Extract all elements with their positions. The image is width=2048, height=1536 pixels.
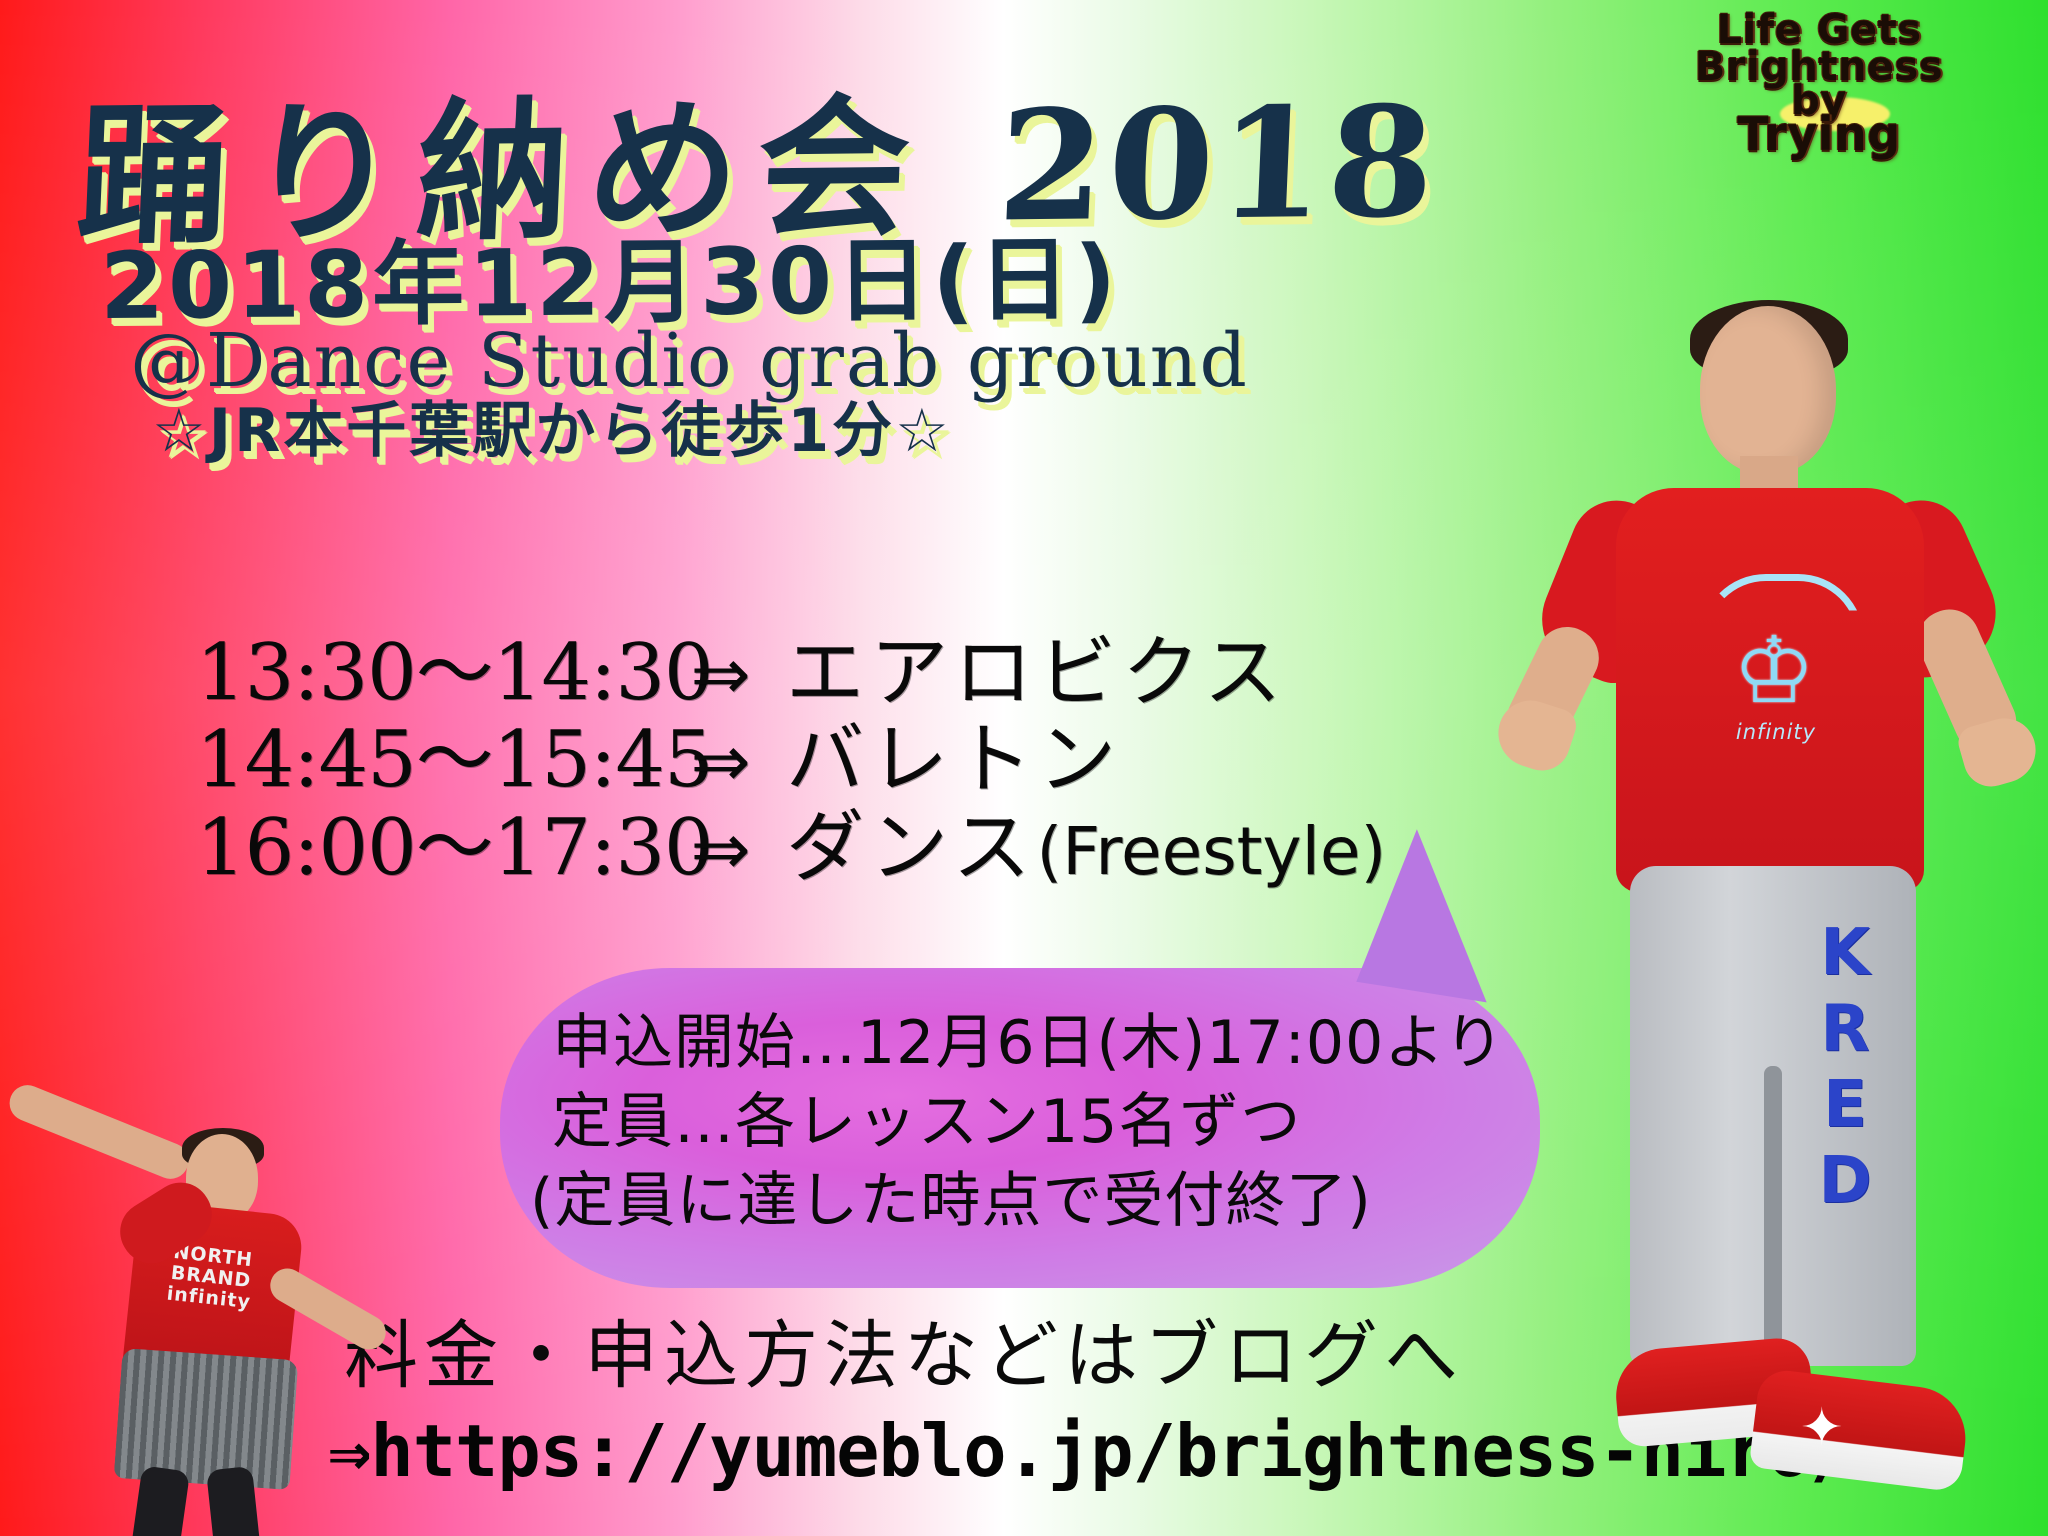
event-access: ☆JR本千葉駅から徒歩1分☆: [152, 401, 1249, 462]
brand-logo: Life Gets Brightness by Trying: [1604, 12, 2034, 156]
notice-line-closing: (定員に達した時点で受付終了): [530, 1162, 1512, 1241]
head: [1700, 306, 1836, 474]
schedule-label: ダンス(Freestyle): [786, 805, 1386, 892]
schedule-time: 13:30〜14:30: [196, 630, 656, 717]
dancer-photo-right: ♔ infinity KRED ✦: [1518, 306, 2038, 1536]
schedule-row: 13:30〜14:30 ⇒ エアロビクス: [196, 630, 1386, 717]
arm-raised: [4, 1080, 194, 1185]
shoe-right: [1749, 1367, 1972, 1492]
notice-line-capacity: 定員…各レッスン15名ずつ: [552, 1083, 1512, 1162]
brand-line-3: Trying: [1604, 113, 2034, 155]
schedule-label: エアロビクス: [786, 630, 1288, 717]
brand-line-1: Life Gets Brightness: [1604, 12, 2034, 86]
schedule-label-note: (Freestyle): [1036, 813, 1386, 890]
schedule-time: 16:00〜17:30: [196, 805, 656, 892]
pants-center-seam: [1764, 1066, 1782, 1366]
schedule-list: 13:30〜14:30 ⇒ エアロビクス 14:45〜15:45 ⇒ バレトン …: [196, 630, 1386, 892]
plaid-shorts: [114, 1348, 299, 1490]
pants-print-text: KRED: [1818, 916, 1876, 1246]
shirt-logo-subtext: infinity: [1714, 720, 1838, 744]
notice-line-application-start: 申込開始…12月6日(木)17:00より: [552, 1004, 1512, 1083]
arrow-icon: ⇒: [656, 809, 786, 890]
schedule-label: バレトン: [786, 717, 1122, 804]
schedule-label-text: バレトン: [786, 715, 1122, 805]
dancer-photo-left: NORTH BRAND infinity: [6, 1096, 386, 1526]
schedule-label-text: エアロビクス: [786, 628, 1288, 718]
event-details: 2018年12月30日(日) @Dance Studio grab ground…: [100, 236, 1249, 462]
arrow-icon: ⇒: [656, 634, 786, 715]
notice-speech-bubble: 申込開始…12月6日(木)17:00より 定員…各レッスン15名ずつ (定員に達…: [500, 968, 1540, 1288]
event-date: 2018年12月30日(日): [100, 232, 1249, 334]
notice-text-block: 申込開始…12月6日(木)17:00より 定員…各レッスン15名ずつ (定員に達…: [552, 1004, 1512, 1242]
schedule-row: 14:45〜15:45 ⇒ バレトン: [196, 717, 1386, 804]
schedule-label-text: ダンス: [786, 803, 1036, 893]
schedule-row: 16:00〜17:30 ⇒ ダンス(Freestyle): [196, 805, 1386, 892]
arrow-icon: ⇒: [656, 721, 786, 802]
flyer-canvas: Life Gets Brightness by Trying 踊り納め会 201…: [0, 0, 2048, 1536]
schedule-time: 14:45〜15:45: [196, 717, 656, 804]
shoe-star-icon: ✦: [1800, 1398, 1844, 1458]
